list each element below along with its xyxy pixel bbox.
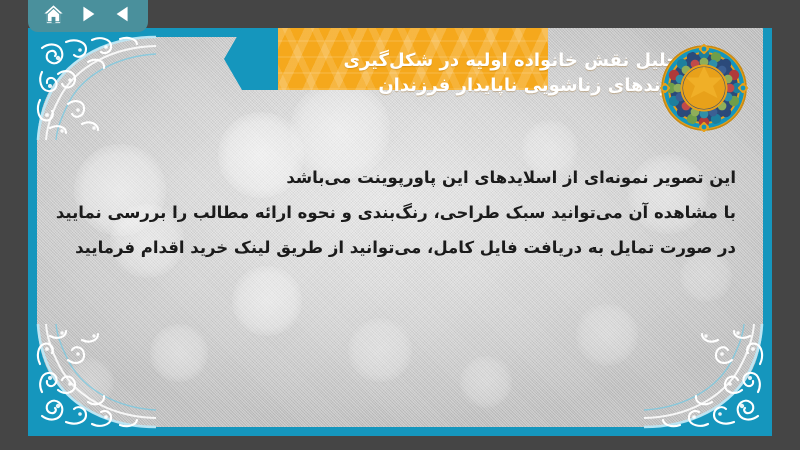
persian-medallion-ornament-icon	[660, 44, 748, 132]
body-text-line-2: با مشاهده آن می‌توانید سبک طراحی، رنگ‌بن…	[116, 195, 736, 230]
slide-body-text: این تصویر نمونه‌ای از اسلایدهای این پاور…	[116, 160, 736, 265]
body-text-line-1: این تصویر نمونه‌ای از اسلایدهای این پاور…	[116, 160, 736, 195]
slide-border-right	[763, 28, 772, 436]
banner-teal-tab	[224, 28, 280, 90]
slide-canvas: تحلیل نقش خانواده اولیه در شکل‌گیری پیون…	[28, 28, 772, 436]
banner-gold-body	[278, 28, 548, 90]
home-button[interactable]	[40, 1, 66, 27]
next-slide-button[interactable]	[75, 1, 101, 27]
body-text-line-3: در صورت تمایل به دریافت فایل کامل، می‌تو…	[116, 230, 736, 265]
slide-border-top-right	[764, 28, 772, 37]
slide-title-banner	[28, 28, 548, 90]
banner-chevron-pattern	[278, 28, 548, 90]
navigation-bar	[28, 0, 148, 32]
presentation-viewer: تحلیل نقش خانواده اولیه در شکل‌گیری پیون…	[0, 0, 800, 450]
previous-slide-button[interactable]	[110, 1, 136, 27]
slide-border-bottom	[28, 427, 772, 436]
